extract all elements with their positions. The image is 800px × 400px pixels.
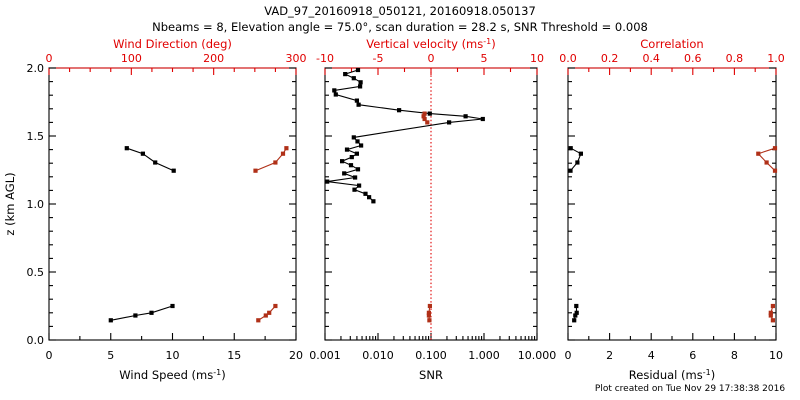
panel-3-frame	[568, 68, 776, 340]
series-snr-point	[359, 80, 363, 84]
series-snr-point	[363, 192, 367, 196]
series-snr-point	[371, 199, 375, 203]
series-snr-point	[325, 180, 329, 184]
series-correlation-point	[773, 169, 777, 173]
panel-2-top-xtick-label: -10	[316, 52, 334, 65]
y-tick-label: 1.0	[27, 198, 45, 211]
series-wind-speed-point	[109, 318, 113, 322]
series-snr-point	[352, 76, 356, 80]
series-wind-speed-point	[172, 169, 176, 173]
panel-3-xtick-label: 2	[606, 349, 613, 362]
panel-1-top-xtick-label: 300	[286, 52, 307, 65]
panel-3-x-axis-label: Residual (ms-1)	[629, 368, 715, 382]
series-snr-point	[355, 139, 359, 143]
panel-1-xtick-label: 5	[107, 349, 114, 362]
series-correlation-point	[771, 318, 775, 322]
series-wind-speed-point	[141, 152, 145, 156]
series-wind-speed-point	[125, 146, 129, 150]
panel-3-top-xtick-label: 1.0	[767, 52, 785, 65]
panel-2-xtick-label: 1.000	[468, 349, 500, 362]
series-snr-point	[367, 195, 371, 199]
series-wind-direction-point	[273, 304, 277, 308]
series-snr-point	[359, 143, 363, 147]
series-snr-point	[355, 99, 359, 103]
series-residual-line	[571, 148, 581, 171]
panel-1-xtick-label: 15	[227, 349, 241, 362]
panel-2-xtick-label: 0.100	[415, 349, 447, 362]
series-correlation-point	[771, 304, 775, 308]
series-snr-point	[332, 88, 336, 92]
series-residual-point	[574, 304, 578, 308]
y-tick-label: 2.0	[27, 62, 45, 75]
series-residual-point	[575, 311, 579, 315]
series-snr-point	[334, 92, 338, 96]
series-snr-point	[353, 175, 357, 179]
panel-3-xtick-label: 4	[648, 349, 655, 362]
series-vertical-velocity-point	[427, 313, 431, 317]
series-wind-direction-point	[284, 146, 288, 150]
panel-2-top-x-axis-label: Vertical velocity (ms-1)	[366, 37, 495, 51]
y-tick-label: 1.5	[27, 130, 45, 143]
series-snr-point	[397, 108, 401, 112]
series-residual-point	[579, 152, 583, 156]
series-snr-point	[357, 184, 361, 188]
series-correlation-point	[756, 152, 760, 156]
series-wind-direction-line	[256, 148, 287, 171]
series-residual-point	[568, 169, 572, 173]
series-vertical-velocity-point	[427, 318, 431, 322]
panel-2-x-axis-label: SNR	[419, 368, 443, 382]
series-snr-point	[357, 103, 361, 107]
series-snr-point	[355, 152, 359, 156]
panel-3-xtick-label: 8	[731, 349, 738, 362]
series-snr-point	[350, 155, 354, 159]
series-correlation-point	[765, 160, 769, 164]
panel-3-top-xtick-label: 0.0	[559, 52, 577, 65]
panel-3-xtick-label: 10	[769, 349, 783, 362]
figure-title: VAD_97_20160918_050121, 20160918.050137	[264, 4, 536, 18]
series-wind-speed-point	[133, 313, 137, 317]
panel-1-x-axis-label: Wind Speed (ms-1)	[119, 368, 225, 382]
panel-2-top-xtick-label: -5	[373, 52, 384, 65]
plot-canvas: VAD_97_20160918_050121, 20160918.050137N…	[0, 0, 800, 400]
panel-1-xtick-label: 0	[46, 349, 53, 362]
series-correlation-point	[769, 311, 773, 315]
series-vertical-velocity-point	[425, 120, 429, 124]
panel-1-frame	[49, 68, 296, 340]
series-wind-direction-point	[267, 311, 271, 315]
series-wind-direction-point	[256, 318, 260, 322]
series-snr-line	[327, 70, 483, 201]
panel-1-top-xtick-label: 100	[121, 52, 142, 65]
series-wind-direction-point	[273, 160, 277, 164]
panel-3-top-x-axis-label: Correlation	[640, 37, 703, 51]
series-vertical-velocity-point	[428, 304, 432, 308]
series-wind-direction-line	[258, 306, 275, 320]
series-snr-point	[342, 171, 346, 175]
series-correlation-line	[758, 148, 775, 171]
series-snr-point	[352, 135, 356, 139]
series-residual-point	[575, 160, 579, 164]
series-wind-speed-point	[149, 311, 153, 315]
series-wind-direction-point	[253, 169, 257, 173]
panel-1-top-x-axis-label: Wind Direction (deg)	[113, 37, 232, 51]
series-snr-point	[356, 68, 360, 72]
series-snr-point	[447, 120, 451, 124]
vad-plot-figure: VAD_97_20160918_050121, 20160918.050137N…	[0, 0, 800, 400]
panel-2-top-xtick-label: 0	[428, 52, 435, 65]
panel-3-top-xtick-label: 0.8	[726, 52, 744, 65]
series-wind-direction-point	[281, 152, 285, 156]
series-residual-point	[569, 146, 573, 150]
panel-2-xtick-label: 0.001	[309, 349, 341, 362]
y-tick-label: 0.5	[27, 266, 45, 279]
series-snr-point	[349, 163, 353, 167]
panel-3-xtick-label: 6	[689, 349, 696, 362]
series-snr-point	[358, 84, 362, 88]
panel-2-top-xtick-label: 10	[530, 52, 544, 65]
panel-2-top-xtick-label: 5	[481, 52, 488, 65]
panel-1-xtick-label: 10	[166, 349, 180, 362]
series-snr-point	[343, 72, 347, 76]
panel-1-top-xtick-label: 200	[203, 52, 224, 65]
plot-timestamp: Plot created on Tue Nov 29 17:38:38 2016	[595, 384, 785, 394]
series-wind-speed-point	[153, 160, 157, 164]
panel-3-top-xtick-label: 0.4	[642, 52, 660, 65]
series-snr-point	[481, 117, 485, 121]
y-axis-label: z (km AGL)	[3, 172, 17, 235]
series-snr-point	[345, 148, 349, 152]
panel-1-top-xtick-label: 0	[46, 52, 53, 65]
panel-2-xtick-label: 0.010	[362, 349, 394, 362]
series-correlation-point	[773, 146, 777, 150]
series-snr-point	[352, 188, 356, 192]
y-tick-label: 0.0	[27, 334, 45, 347]
series-snr-point	[464, 114, 468, 118]
panel-3-top-xtick-label: 0.2	[601, 52, 619, 65]
figure-subtitle: Nbeams = 8, Elevation angle = 75.0°, sca…	[152, 20, 648, 34]
panel-1-xtick-label: 20	[289, 349, 303, 362]
panel-2-xtick-label: 10.000	[518, 349, 557, 362]
series-snr-point	[428, 112, 432, 116]
series-residual-point	[572, 318, 576, 322]
panel-3-top-xtick-label: 0.6	[684, 52, 702, 65]
panel-3-xtick-label: 0	[565, 349, 572, 362]
series-snr-point	[356, 167, 360, 171]
series-snr-point	[340, 159, 344, 163]
series-wind-speed-point	[170, 304, 174, 308]
series-wind-speed-line	[111, 306, 173, 320]
series-wind-speed-line	[127, 148, 174, 171]
